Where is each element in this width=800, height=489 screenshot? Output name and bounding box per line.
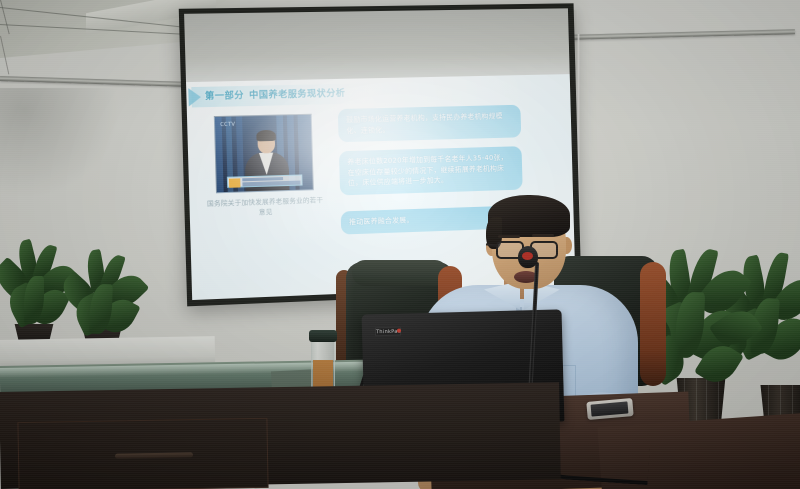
news-anchor-hair [256,130,276,142]
thinkpad-logo-dot [397,329,401,333]
speaker-eyebrow-left [498,235,520,238]
smartphone-screen [591,401,629,416]
slide-bullet-2: 养老床位数2020年增加到每千名老年人35-40张，在空床位存量较少的情况下，继… [339,147,523,196]
slide-title-part: 第一部分 [205,91,244,102]
microphone-indicator [522,252,533,260]
bottle-cap[interactable] [309,330,337,342]
video-caption: 国务院关于加快发展养老服务业的若干意见 [204,196,327,219]
slide-bullet-1: 鼓励市场化运营养老机构，支持民办养老机构规模化、连锁化。 [338,105,521,142]
ticker-badge [229,179,241,188]
cctv-logo: CCTV [220,122,235,128]
news-ticker [227,175,303,188]
ticker-line [242,181,300,187]
speaker-eyebrow-right [532,234,554,237]
chevron-right-icon [188,88,201,107]
wall-shadow [0,88,120,198]
ceiling-grid-line [0,0,10,34]
slide-video-thumbnail[interactable]: CCTV [214,114,314,194]
conference-room-photo: 第一部分中国养老服务现状分析 CCTV 国务院关于加快发展养老服务业的若干 [0,0,800,489]
